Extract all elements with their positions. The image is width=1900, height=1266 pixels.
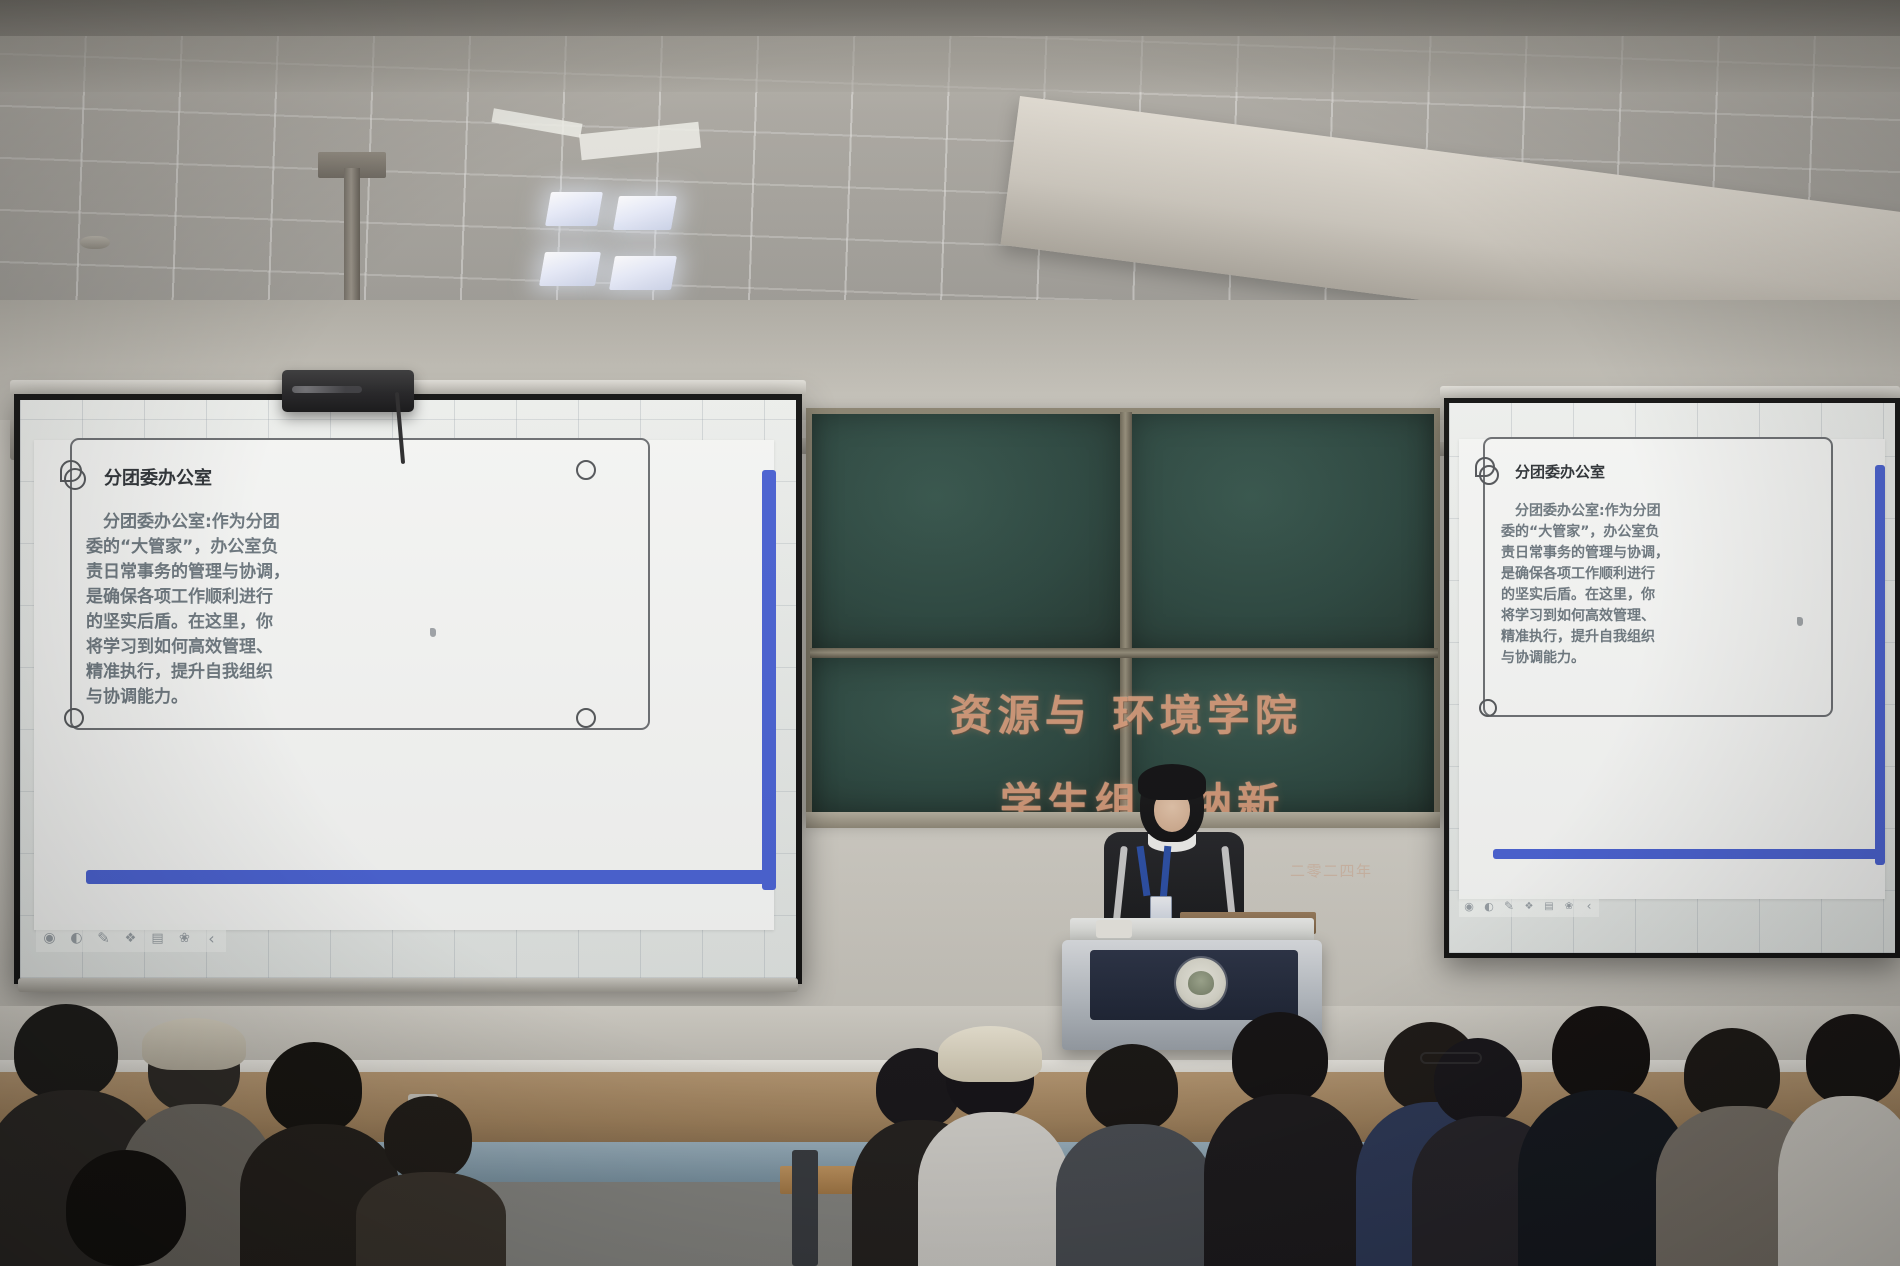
settings-icon[interactable]: ❀ [1559,895,1579,917]
bracket-node-bottom-right-icon [576,708,596,728]
audience-head [66,1150,186,1266]
audience-shoulders [918,1112,1070,1266]
speaker-hair [1138,764,1206,800]
university-seal-icon [1176,958,1226,1008]
keyboard-icon[interactable]: ▤ [1539,895,1559,917]
slide-body-line: 是确保各项工作顺利进行 [86,585,386,610]
pointer-icon[interactable]: ◉ [36,924,63,952]
audience-cap-beige [938,1026,1042,1082]
bracket-node-top-left-ring-icon [64,468,86,490]
pointer-icon[interactable]: ◉ [1459,895,1479,917]
ceiling-shadow-band [0,0,1900,92]
left-screen-surface: 分团委办公室 分团委办公室:作为分团 委的“大管家”，办公室负 责日常事务的管理… [20,400,796,978]
slide-body-line: 将学习到如何高效管理、 [1501,606,1751,627]
mouse-cursor-icon [1797,617,1803,626]
blackboard-panel-top-right [1130,414,1434,650]
blackboard-divider-horizontal [810,648,1438,658]
slide-title: 分团委办公室 [104,464,212,490]
audience-head [1086,1044,1178,1132]
settings-icon[interactable]: ❀ [171,924,198,952]
back-icon[interactable]: ‹ [198,924,225,952]
slide-body-line: 责日常事务的管理与协调， [1501,543,1751,564]
audience-shoulders [356,1172,506,1266]
chalk-tray [806,812,1440,828]
audience-shoulders [1056,1124,1214,1266]
slide-accent-bottom [86,870,776,884]
bracket-node-top-left-ring-icon [1479,465,1499,485]
eraser-icon[interactable]: ◐ [1479,895,1499,917]
audience-head [14,1004,118,1100]
slide-body: 分团委办公室:作为分团 委的“大管家”，办公室负 责日常事务的管理与协调， 是确… [1501,501,1751,669]
back-icon[interactable]: ‹ [1579,895,1599,917]
audience-head [1232,1012,1328,1104]
ceiling-projector [282,370,414,412]
desk-paper [1096,920,1132,938]
slide-body: 分团委办公室:作为分团 委的“大管家”，办公室负 责日常事务的管理与协调， 是确… [86,510,386,710]
mouse-cursor-icon [430,628,436,637]
audience-head [1434,1038,1522,1124]
slide-accent-bottom [1493,849,1885,859]
slide-body-line: 责日常事务的管理与协调， [86,560,386,585]
pen-icon[interactable]: ✎ [90,924,117,952]
blackboard-text-line-1: 资源与 环境学院 [950,682,1302,743]
slide-body-line: 精准执行，提升自我组织 [1501,627,1751,648]
shape-icon[interactable]: ❖ [117,924,144,952]
blackboard-divider-vertical [1120,412,1132,816]
slide-title: 分团委办公室 [1515,461,1605,482]
chair-back [792,1150,818,1266]
audience-head [266,1042,362,1134]
eraser-icon[interactable]: ◐ [63,924,90,952]
blackboard-faint-note: 二零二四年 [1290,860,1373,881]
audience-shoulders [1204,1094,1368,1266]
slide-toolbar[interactable]: ◉ ◐ ✎ ❖ ▤ ❀ ‹ [36,924,226,952]
slide-body-line: 的坚实后盾。在这里，你 [1501,585,1751,606]
shape-icon[interactable]: ❖ [1519,895,1539,917]
slide-body-line: 分团委办公室:作为分团 [1501,501,1751,522]
left-screen-bottom-weight [18,978,798,992]
audience-head [1552,1006,1650,1102]
ceiling-light-panel [539,252,601,286]
ceiling-light-panel [609,256,677,290]
slide-accent-right [762,470,776,890]
keyboard-icon[interactable]: ▤ [144,924,171,952]
left-projection-screen: 分团委办公室 分团委办公室:作为分团 委的“大管家”，办公室负 责日常事务的管理… [14,394,802,984]
slide-body-line: 的坚实后盾。在这里，你 [86,610,386,635]
slide-body-line: 将学习到如何高效管理、 [86,635,386,660]
smoke-detector-icon [80,236,110,249]
ceiling-light-panel [613,196,677,230]
slide-body-line: 与协调能力。 [1501,648,1751,669]
slide-body-line: 分团委办公室:作为分团 [86,510,386,535]
slide-body-line: 委的“大管家”，办公室负 [1501,522,1751,543]
slide-body-line: 精准执行，提升自我组织 [86,660,386,685]
lecture-hall-photo: 资源与 环境学院 学生组织纳新 二零二四年 分团委办公室 分团委办公室:作为分团… [0,0,1900,1266]
slide-toolbar[interactable]: ◉ ◐ ✎ ❖ ▤ ❀ ‹ [1459,895,1599,917]
slide-accent-right [1875,465,1885,865]
audience-glasses-icon [1420,1052,1482,1064]
audience-head [1806,1014,1900,1106]
audience-shoulders [1778,1096,1900,1266]
right-projection-screen: 分团委办公室 分团委办公室:作为分团 委的“大管家”，办公室负 责日常事务的管理… [1444,398,1900,958]
slide-body-line: 与协调能力。 [86,685,386,710]
audience-head [384,1096,472,1180]
slide-body-line: 是确保各项工作顺利进行 [1501,564,1751,585]
right-screen-surface: 分团委办公室 分团委办公室:作为分团 委的“大管家”，办公室负 责日常事务的管理… [1449,403,1895,953]
bracket-node-bottom-left-icon [1479,699,1497,717]
slide-body-line: 委的“大管家”，办公室负 [86,535,386,560]
ceiling [0,0,1900,330]
pen-icon[interactable]: ✎ [1499,895,1519,917]
bracket-node-top-right-icon [576,460,596,480]
blackboard-panel-top-left [812,414,1122,650]
ceiling-light-panel [545,192,603,226]
bracket-node-bottom-left-icon [64,708,84,728]
audience-cap [142,1018,246,1070]
